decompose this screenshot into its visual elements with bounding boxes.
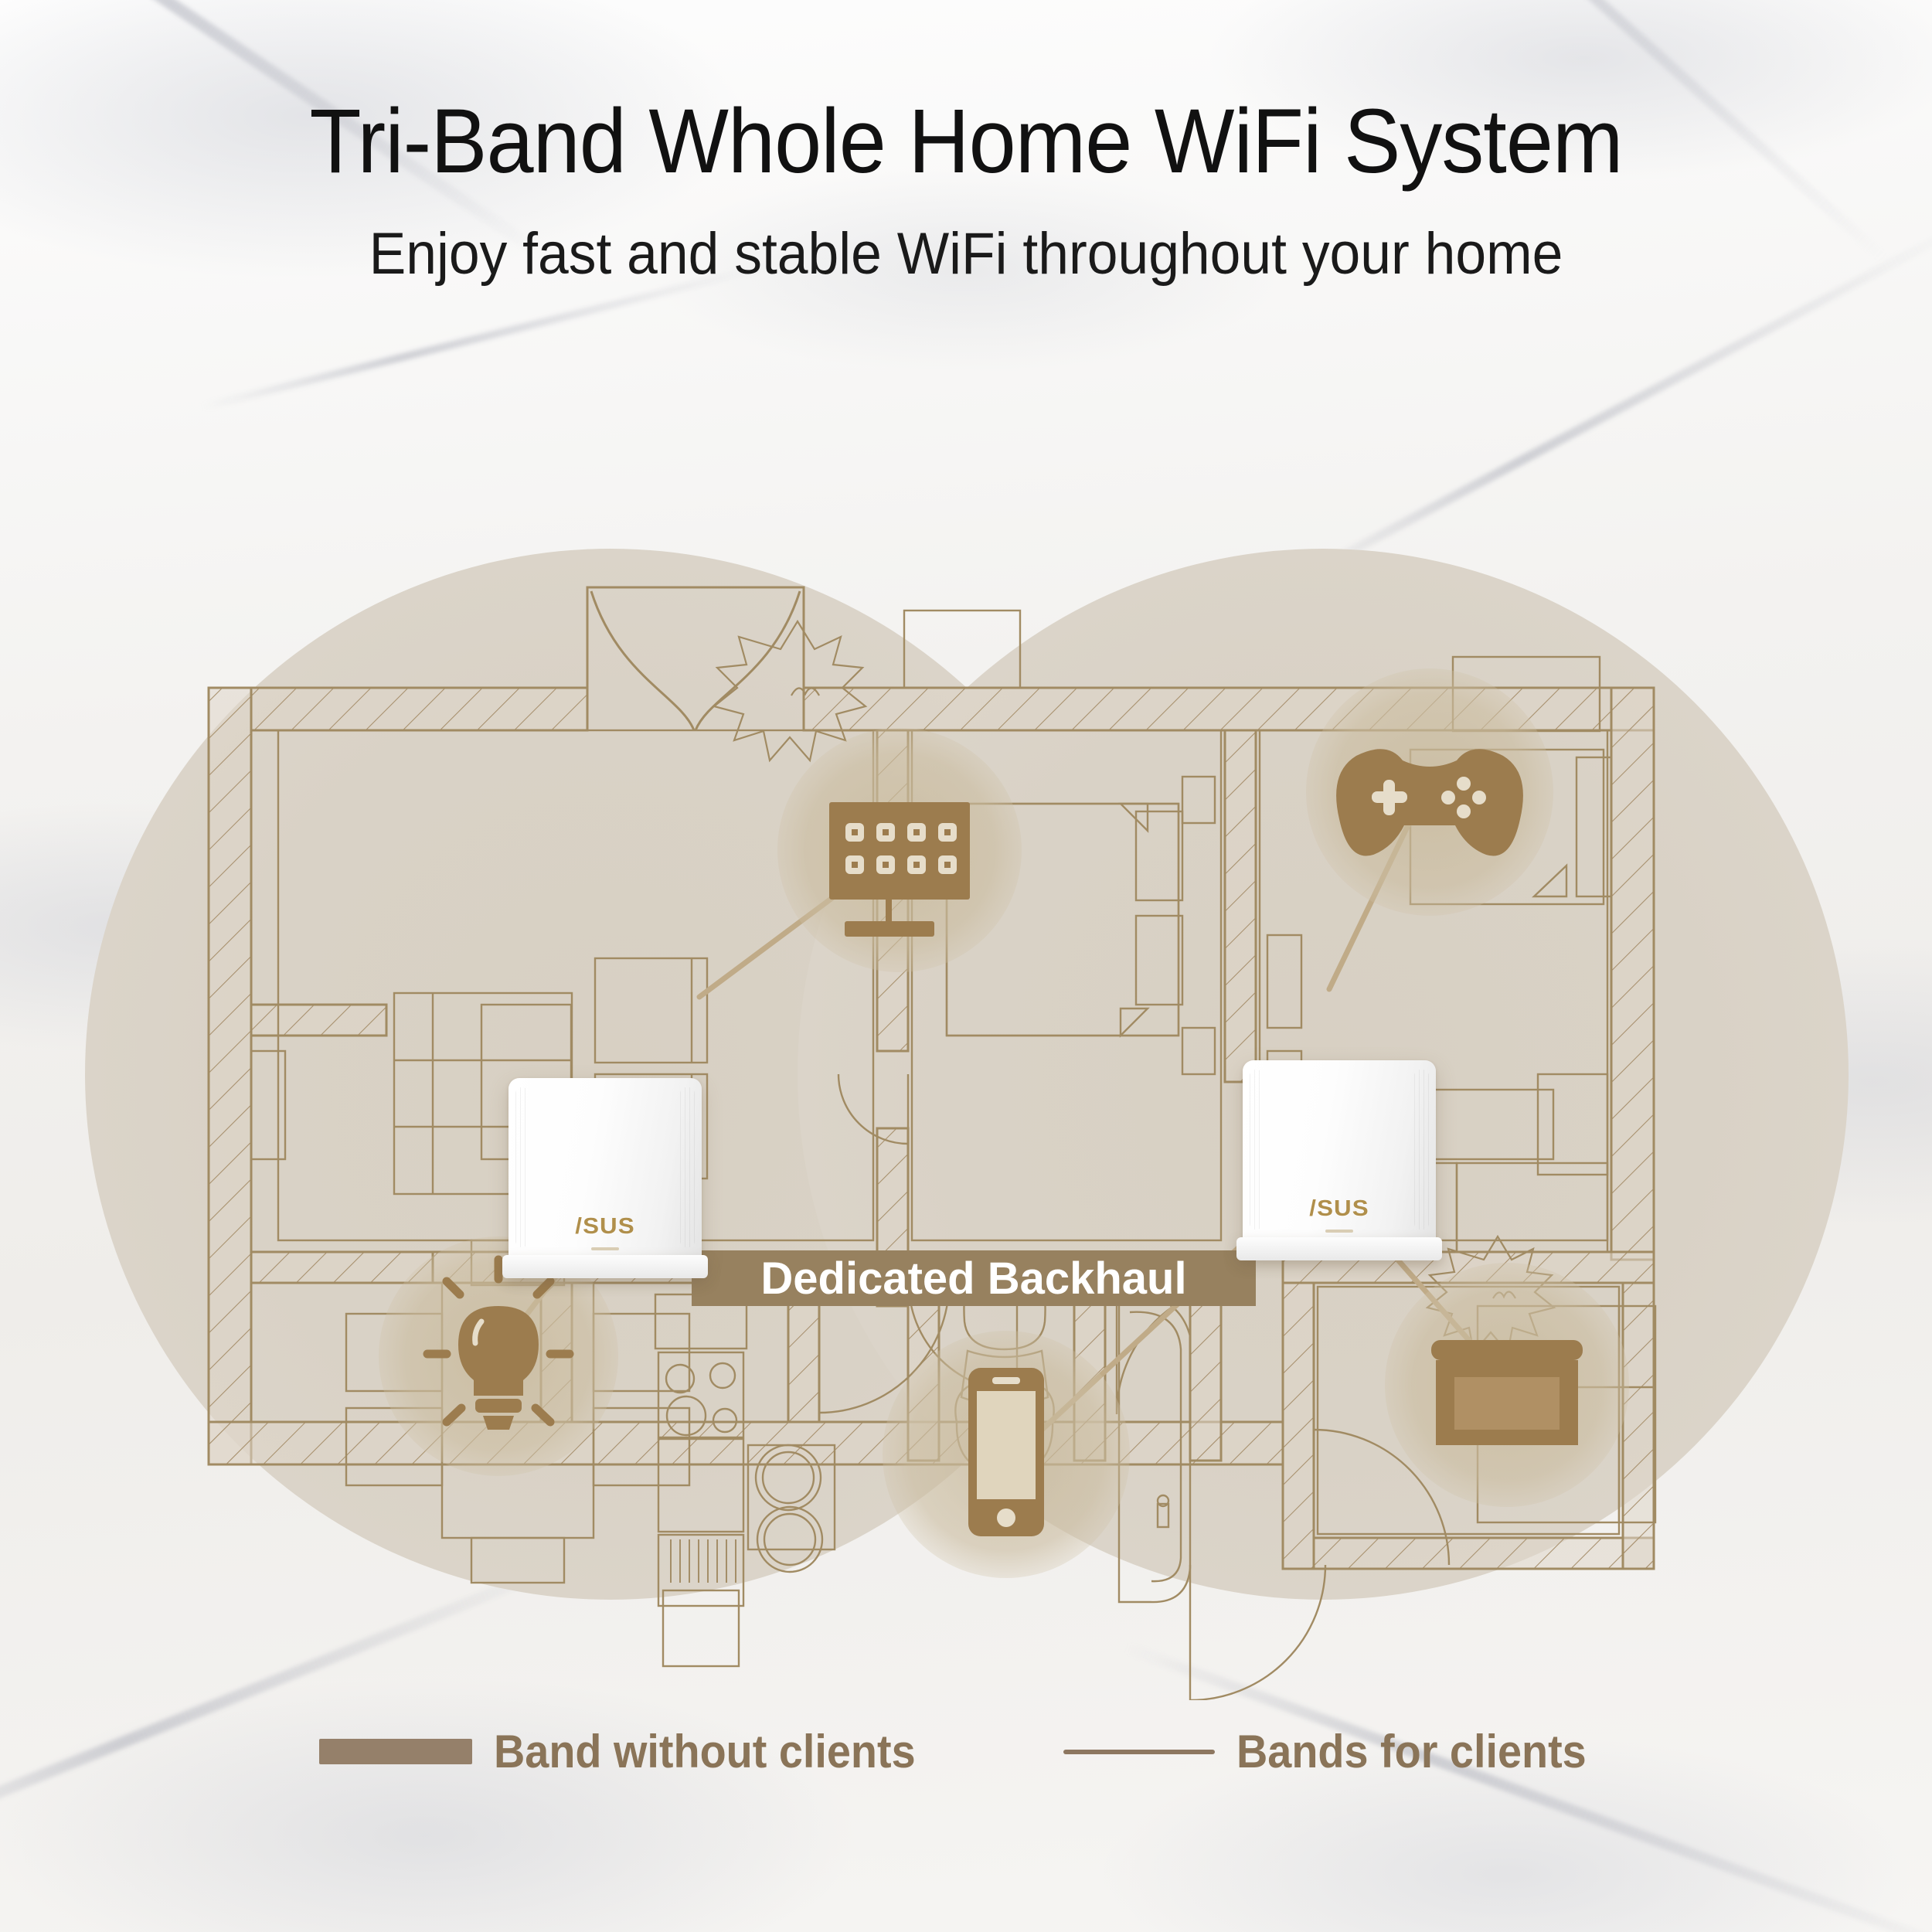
- legend-label: Bands for clients: [1236, 1725, 1587, 1778]
- page-title: Tri-Band Whole Home WiFi System: [68, 94, 1865, 189]
- backhaul-label: Dedicated Backhaul: [692, 1250, 1256, 1306]
- router-left[interactable]: /SUS: [509, 1078, 702, 1267]
- router-led: [1325, 1230, 1353, 1233]
- legend-item-band-without-clients: Band without clients: [319, 1725, 947, 1778]
- infographic-stage: Tri-Band Whole Home WiFi System Enjoy fa…: [0, 0, 1932, 1932]
- router-base: [502, 1255, 708, 1278]
- floorplan-scene: [0, 464, 1932, 1700]
- legend-swatch-block: [319, 1739, 472, 1764]
- client-spot-phone: [883, 1331, 1130, 1578]
- client-spot-game: [1306, 668, 1553, 916]
- asus-logo: /SUS: [501, 1214, 709, 1240]
- header-block: Tri-Band Whole Home WiFi System Enjoy fa…: [0, 94, 1932, 285]
- client-spot-tv: [777, 728, 1022, 972]
- router-base: [1236, 1237, 1442, 1260]
- client-spot-printer: [1385, 1263, 1629, 1507]
- asus-logo: /SUS: [1235, 1196, 1444, 1222]
- smartphone-icon: [968, 1368, 1044, 1536]
- legend: Band without clients Bands for clients: [0, 1725, 1932, 1778]
- printer-icon: [1431, 1340, 1583, 1445]
- router-led: [591, 1247, 619, 1250]
- page-subtitle: Enjoy fast and stable WiFi throughout yo…: [58, 223, 1874, 285]
- legend-swatch-line: [1063, 1750, 1215, 1754]
- legend-item-bands-for-clients: Bands for clients: [1063, 1725, 1613, 1778]
- router-right[interactable]: /SUS: [1243, 1060, 1436, 1250]
- legend-label: Band without clients: [494, 1725, 916, 1778]
